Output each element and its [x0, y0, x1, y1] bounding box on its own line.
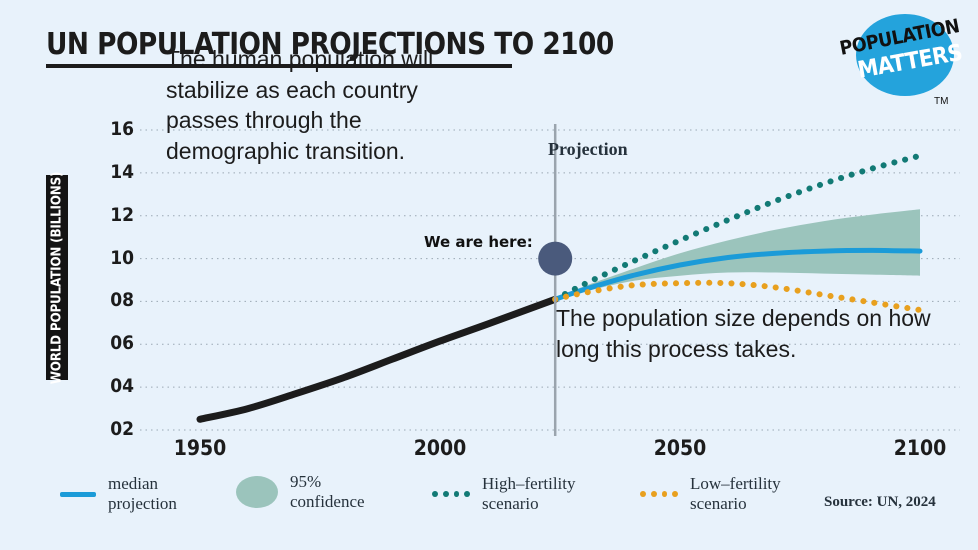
legend-label-median-line1: median — [108, 474, 158, 493]
y-tick-12: 12 — [98, 204, 134, 226]
legend-item-median[interactable]: median projection — [60, 474, 177, 514]
we-are-here-label: We are here: — [424, 233, 533, 251]
annotation-population-size: The population size depends on how long … — [556, 303, 956, 364]
legend-dots-swatch-high-icon — [432, 490, 470, 498]
y-axis-label-text: WORLD POPULATION (BILLIONS) — [50, 171, 65, 384]
gridlines — [140, 130, 960, 430]
projection-label: Projection — [548, 139, 628, 160]
legend-line-swatch-icon — [60, 492, 96, 497]
legend-dots-swatch-low-icon — [640, 490, 678, 498]
y-tick-06: 06 — [98, 332, 134, 354]
legend-label-confidence-line1: 95% — [290, 472, 321, 491]
legend-label-high-fertility: High–fertility scenario — [482, 474, 575, 514]
series-high-fertility-scenario — [555, 156, 920, 300]
series-historical — [200, 299, 555, 419]
legend-label-confidence: 95% confidence — [290, 472, 365, 512]
x-tick-2000: 2000 — [400, 436, 481, 460]
legend-label-high-line1: High–fertility — [482, 474, 575, 493]
legend-label-median-line2: projection — [108, 494, 177, 513]
legend-label-low-fertility: Low–fertility scenario — [690, 474, 781, 514]
y-tick-16: 16 — [98, 118, 134, 140]
legend-label-low-line2: scenario — [690, 494, 747, 513]
logo-trademark: TM — [934, 96, 948, 107]
legend-item-high-fertility[interactable]: High–fertility scenario — [432, 474, 575, 514]
legend-item-low-fertility[interactable]: Low–fertility scenario — [640, 474, 781, 514]
annotation-demographic-transition: The human population will stabilize as e… — [166, 44, 466, 166]
legend-label-low-line1: Low–fertility — [690, 474, 781, 493]
confidence-band-area — [555, 209, 920, 300]
y-tick-10: 10 — [98, 247, 134, 269]
legend-item-confidence[interactable]: 95% confidence — [236, 472, 365, 512]
series-median-projection — [555, 250, 920, 299]
source-note: Source: UN, 2024 — [824, 494, 936, 511]
y-tick-08: 08 — [98, 289, 134, 311]
y-tick-04: 04 — [98, 375, 134, 397]
x-tick-2050: 2050 — [640, 436, 721, 460]
x-tick-2100: 2100 — [880, 436, 961, 460]
legend-ellipse-swatch-icon — [236, 476, 278, 508]
legend-label-confidence-line2: confidence — [290, 492, 365, 511]
chart-page: UN POPULATION PROJECTIONS TO 2100 POPULA… — [0, 0, 978, 550]
population-matters-logo: POPULATION MATTERS TM — [838, 12, 966, 108]
we-are-here-marker — [538, 242, 572, 276]
y-tick-02: 02 — [98, 418, 134, 440]
y-axis-label: WORLD POPULATION (BILLIONS) — [46, 175, 68, 380]
y-tick-14: 14 — [98, 161, 134, 183]
chart-legend: median projection 95% confidence High–fe… — [0, 466, 978, 526]
legend-label-high-line2: scenario — [482, 494, 539, 513]
x-tick-1950: 1950 — [160, 436, 241, 460]
legend-label-median: median projection — [108, 474, 177, 514]
series-paths — [200, 156, 920, 420]
